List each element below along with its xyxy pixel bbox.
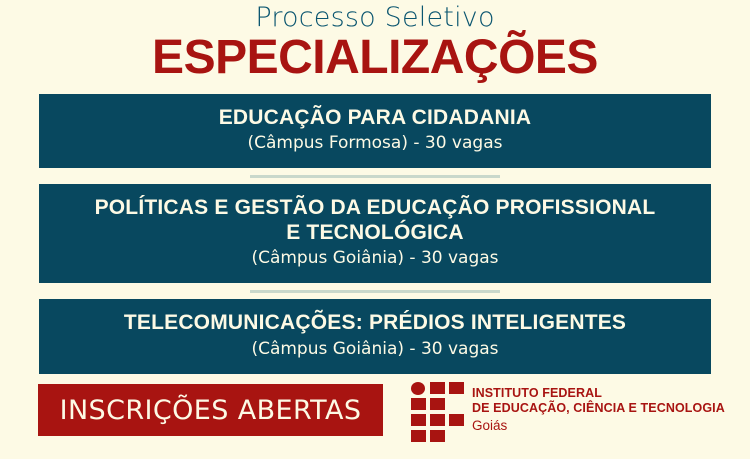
course-subtitle: (Câmpus Goiânia) - 30 vagas xyxy=(61,248,689,269)
logo-cell xyxy=(430,398,445,410)
ifg-logo-text: INSTITUTO FEDERAL DE EDUCAÇÃO, CIÊNCIA E… xyxy=(472,386,725,434)
logo-cell xyxy=(411,398,426,410)
logo-cell xyxy=(449,382,464,394)
course-subtitle: (Câmpus Formosa) - 30 vagas xyxy=(61,133,689,154)
course-card-list: EDUCAÇÃO PARA CIDADANIA (Câmpus Formosa)… xyxy=(0,94,750,374)
poster-footer: INSCRIÇÕES ABERTAS INSTITUTO FEDERAL DE … xyxy=(0,361,750,459)
poster-root: Processo Seletivo ESPECIALIZAÇÕES EDUCAÇ… xyxy=(0,0,750,459)
logo-line-instituto-federal: INSTITUTO FEDERAL xyxy=(472,386,725,401)
course-subtitle: (Câmpus Goiânia) - 30 vagas xyxy=(61,339,689,360)
course-title: POLÍTICAS E GESTÃO DA EDUCAÇÃO PROFISSIO… xyxy=(61,196,689,220)
course-title-line-2: E TECNOLÓGICA xyxy=(61,221,689,245)
course-card[interactable]: EDUCAÇÃO PARA CIDADANIA (Câmpus Formosa)… xyxy=(39,94,711,169)
header-eyebrow: Processo Seletivo xyxy=(0,4,750,32)
ifg-logo-grid-icon xyxy=(411,382,463,438)
logo-cell xyxy=(430,430,445,442)
card-separator xyxy=(0,283,750,299)
logo-cell xyxy=(449,414,464,426)
logo-cell xyxy=(430,414,445,426)
inscricoes-abertas-button[interactable]: INSCRIÇÕES ABERTAS xyxy=(38,384,383,436)
logo-line-educacao-ciencia-tecnologia: DE EDUCAÇÃO, CIÊNCIA E TECNOLOGIA xyxy=(472,401,725,416)
logo-cell xyxy=(411,414,426,426)
ifg-logo: INSTITUTO FEDERAL DE EDUCAÇÃO, CIÊNCIA E… xyxy=(411,382,725,438)
card-separator xyxy=(0,168,750,184)
logo-cell-circle xyxy=(411,382,425,395)
divider-line xyxy=(250,175,500,178)
course-card[interactable]: POLÍTICAS E GESTÃO DA EDUCAÇÃO PROFISSIO… xyxy=(39,184,711,283)
poster-header: Processo Seletivo ESPECIALIZAÇÕES xyxy=(0,0,750,84)
course-title: EDUCAÇÃO PARA CIDADANIA xyxy=(61,106,689,130)
page-title: ESPECIALIZAÇÕES xyxy=(0,32,750,83)
logo-cell xyxy=(411,430,426,442)
logo-cell xyxy=(430,382,445,394)
course-title: TELECOMUNICAÇÕES: PRÉDIOS INTELIGENTES xyxy=(61,311,689,335)
logo-cell-empty xyxy=(449,430,464,442)
logo-cell-empty xyxy=(449,398,464,410)
logo-line-goias: Goiás xyxy=(472,417,725,434)
divider-line xyxy=(250,290,500,293)
